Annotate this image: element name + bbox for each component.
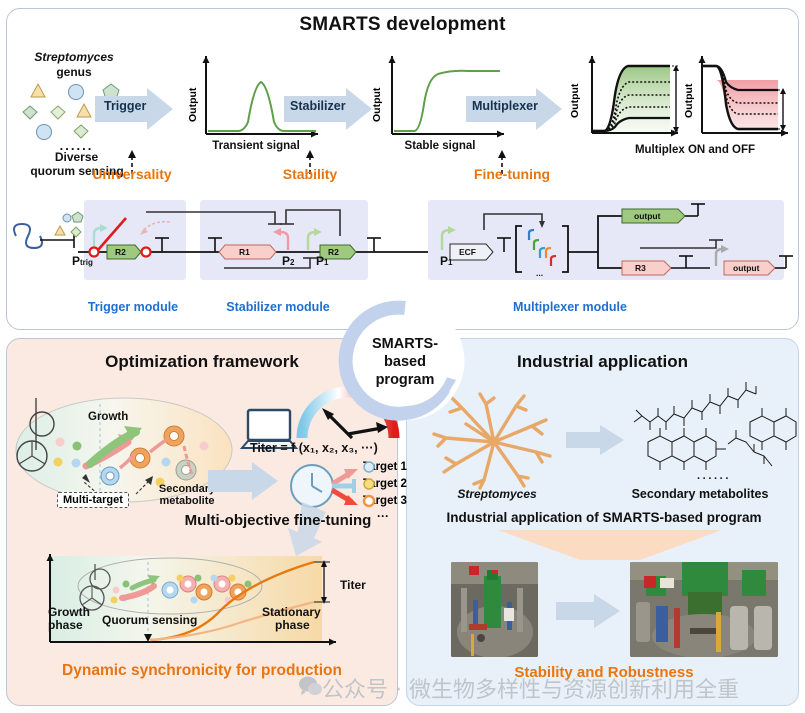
multiplex-off-plot	[680, 50, 800, 145]
growth-phase-line2: phase	[48, 618, 83, 632]
property-universality: Universality	[76, 166, 188, 183]
secondary-metabolite-structures	[630, 378, 798, 488]
watermark-text: 公众号 · 微生物多样性与资源创新利用全重	[322, 672, 739, 704]
ptrig-label: Ptrig	[72, 254, 93, 268]
svg-text:ECF: ECF	[459, 247, 476, 257]
multiplexer-arrow-label: Multiplexer	[472, 99, 552, 114]
stable-ylabel-wrap: Output	[360, 72, 372, 122]
dynamic-synchronicity-chart	[42, 552, 372, 662]
organism-name: Streptomyces	[14, 50, 134, 64]
bioreactor-photo-small	[451, 562, 538, 657]
cycle-line2: based	[384, 354, 426, 370]
quorum-sensing-label: Quorum sensing	[102, 613, 197, 627]
industrial-caption: Industrial application of SMARTS-based p…	[410, 510, 798, 526]
optimization-subtitle: Multi-objective fine-tuning	[158, 512, 398, 530]
property-finetuning: Fine-tuning	[448, 166, 576, 183]
p1-label-mux: P1	[440, 254, 452, 268]
svg-text:R3: R3	[635, 263, 646, 273]
wechat-icon	[298, 674, 322, 696]
target-3-icon	[363, 495, 375, 507]
titer-axis-label: Titer	[340, 578, 366, 592]
organism-rank: genus	[14, 65, 134, 79]
target-2-icon	[363, 478, 375, 490]
photo-transition-arrow	[556, 594, 622, 628]
smarts-cycle-diagram: SMARTS- based program	[340, 296, 470, 426]
multiplex-on-ylabel: Output	[569, 84, 581, 118]
industrial-dots: ······	[630, 473, 798, 486]
list-item: Target 1	[363, 458, 407, 475]
industrial-transform-arrow	[566, 425, 626, 457]
multiplex-on-plot	[566, 50, 686, 145]
multiplex-on-ylabel-wrap: Output	[558, 68, 570, 118]
module-label-trigger: Trigger module	[68, 300, 198, 315]
multiplex-off-ylabel: Output	[683, 84, 695, 118]
cycle-line1: SMARTS-	[372, 336, 438, 352]
page-title: SMARTS development	[0, 14, 805, 36]
transient-ylabel: Output	[187, 88, 199, 122]
optimization-arrow	[208, 462, 288, 502]
target-1-icon	[363, 461, 375, 473]
list-item: Target 3	[363, 492, 407, 509]
trigger-arrow-label: Trigger	[104, 99, 166, 114]
industrial-scaleup-arrow	[490, 530, 730, 564]
bioreactor-photo-large	[630, 562, 778, 657]
svg-text:...: ...	[536, 268, 543, 278]
list-item: Target 2	[363, 475, 407, 492]
stable-ylabel: Output	[371, 88, 383, 122]
module-label-stabilizer: Stabilizer module	[198, 300, 358, 315]
multi-target-label: Multi-target	[57, 492, 129, 508]
svg-text:R1: R1	[239, 247, 250, 257]
multiplex-off-ylabel-wrap: Output	[672, 68, 684, 118]
svg-text:output: output	[634, 211, 661, 221]
p2-label: P2	[282, 254, 294, 268]
industrial-right-label: Secondary metabolites	[610, 487, 790, 502]
transient-ylabel-wrap: Output	[176, 72, 188, 122]
stationary-phase-line2: phase	[275, 618, 310, 632]
svg-text:R2: R2	[328, 247, 339, 257]
genetic-circuit: R2 R1 R2 ECF ... ou	[10, 192, 795, 292]
growth-label: Growth	[88, 411, 128, 425]
property-stability: Stability	[258, 166, 362, 183]
p1-label-stab: P1	[316, 254, 328, 268]
module-label-multiplexer: Multiplexer module	[470, 300, 670, 315]
svg-text:R2: R2	[115, 247, 126, 257]
stabilizer-arrow-label: Stabilizer	[290, 99, 360, 114]
industrial-left-label: Streptomyces	[432, 487, 562, 501]
svg-text:output: output	[733, 263, 760, 273]
titer-formula: Titer = f (x₁, x₂, x₃, ···)	[250, 441, 378, 456]
feedback-arrow	[256, 502, 336, 558]
cycle-line3: program	[376, 372, 435, 388]
